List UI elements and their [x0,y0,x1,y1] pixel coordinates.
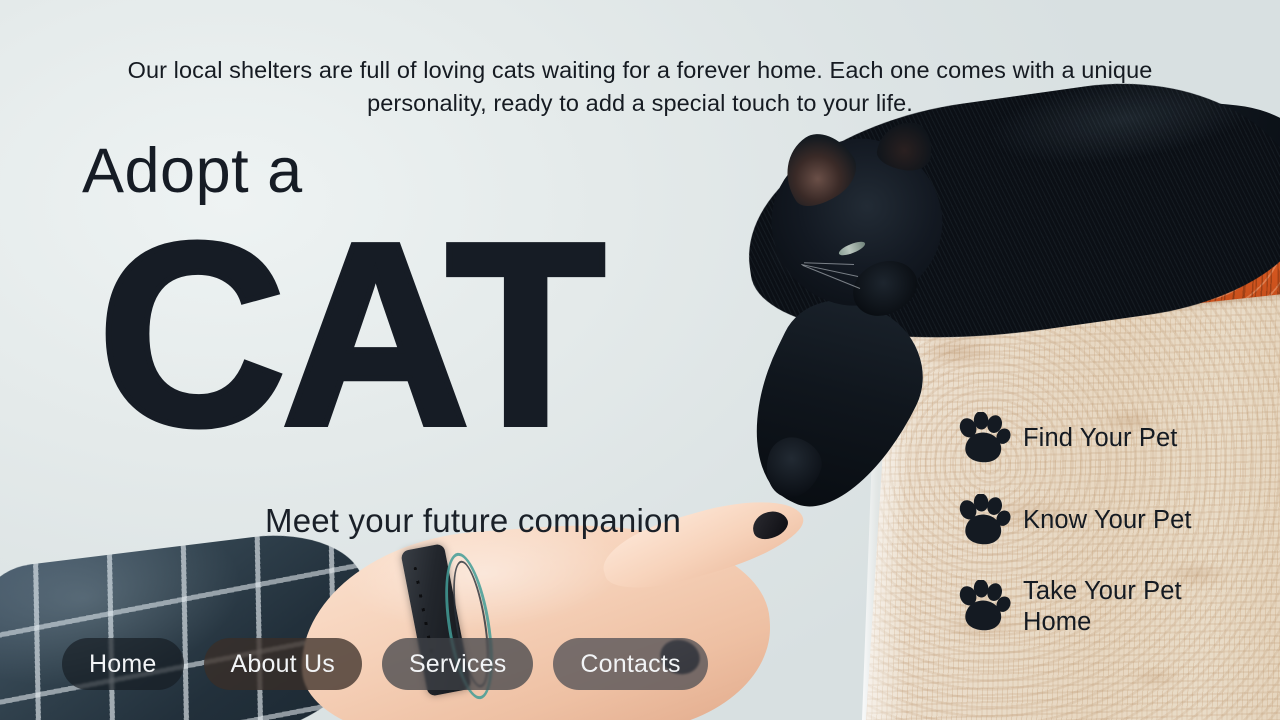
paw-icon [955,494,1011,548]
nav-item-home[interactable]: Home [62,638,184,690]
hero-poster: Our local shelters are full of loving ca… [0,0,1280,720]
tagline: Meet your future companion [265,504,681,537]
feature-label: Know Your Pet [1023,505,1192,536]
nav-item-contacts[interactable]: Contacts [553,638,707,690]
feature-item[interactable]: Know Your Pet [955,494,1245,548]
feature-label: Take Your Pet Home [1023,576,1223,638]
feature-item[interactable]: Take Your Pet Home [955,576,1245,638]
feature-item[interactable]: Find Your Pet [955,412,1245,466]
headline-line-2: CAT [98,205,601,465]
nav-item-about-us[interactable]: About Us [204,638,362,690]
paw-icon [955,412,1011,466]
main-navigation: Home About Us Services Contacts [62,638,708,690]
intro-paragraph: Our local shelters are full of loving ca… [80,54,1200,121]
content-layer: Our local shelters are full of loving ca… [0,0,1280,720]
paw-icon [955,580,1011,634]
feature-label: Find Your Pet [1023,423,1177,454]
feature-list: Find Your Pet Know Your Pet [955,412,1245,638]
nav-item-services[interactable]: Services [382,638,533,690]
